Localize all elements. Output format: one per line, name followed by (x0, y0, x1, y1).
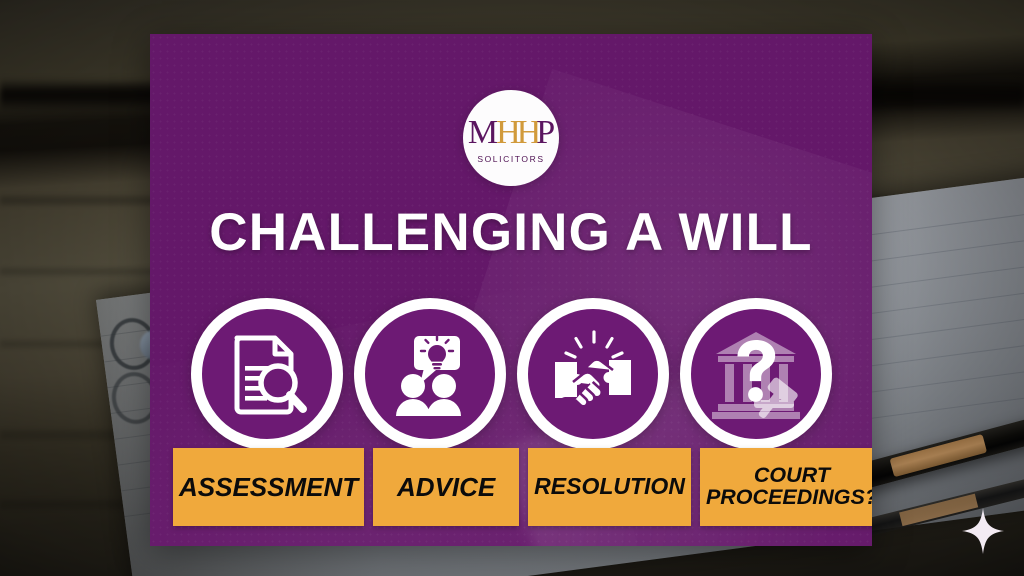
step-circle-court (680, 298, 832, 450)
label-resolution[interactable]: RESOLUTION (528, 448, 691, 526)
mhhp-solicitors-logo: M HH P SOLICITORS (463, 90, 559, 186)
logo-subtitle: SOLICITORS (477, 154, 544, 164)
document-magnifier-icon (221, 328, 313, 420)
label-advice[interactable]: ADVICE (373, 448, 519, 526)
step-circle-resolution (517, 298, 669, 450)
people-lightbulb-idea-icon (384, 328, 476, 420)
slide-canvas: M HH P SOLICITORS CHALLENGING A WILL (0, 0, 1024, 576)
purple-panel: M HH P SOLICITORS CHALLENGING A WILL (150, 34, 872, 546)
handshake-puzzle-icon (545, 326, 641, 422)
step-circle-assessment (191, 298, 343, 450)
slide-title: CHALLENGING A WILL (150, 202, 872, 263)
step-icon-row (150, 298, 872, 450)
step-circle-advice (354, 298, 506, 450)
logo-letter-m: M (468, 116, 497, 150)
logo-letter-p: P (536, 116, 554, 150)
label-court-proceedings[interactable]: COURT PROCEEDINGS? (700, 448, 872, 526)
step-label-row: ASSESSMENT ADVICE RESOLUTION COURT PROCE… (173, 448, 849, 526)
four-point-star-icon (962, 508, 1004, 554)
courthouse-gavel-question-icon (708, 326, 804, 422)
logo-letter-hh: HH (496, 116, 537, 150)
logo-wordmark: M HH P (468, 116, 554, 150)
label-assessment[interactable]: ASSESSMENT (173, 448, 364, 526)
